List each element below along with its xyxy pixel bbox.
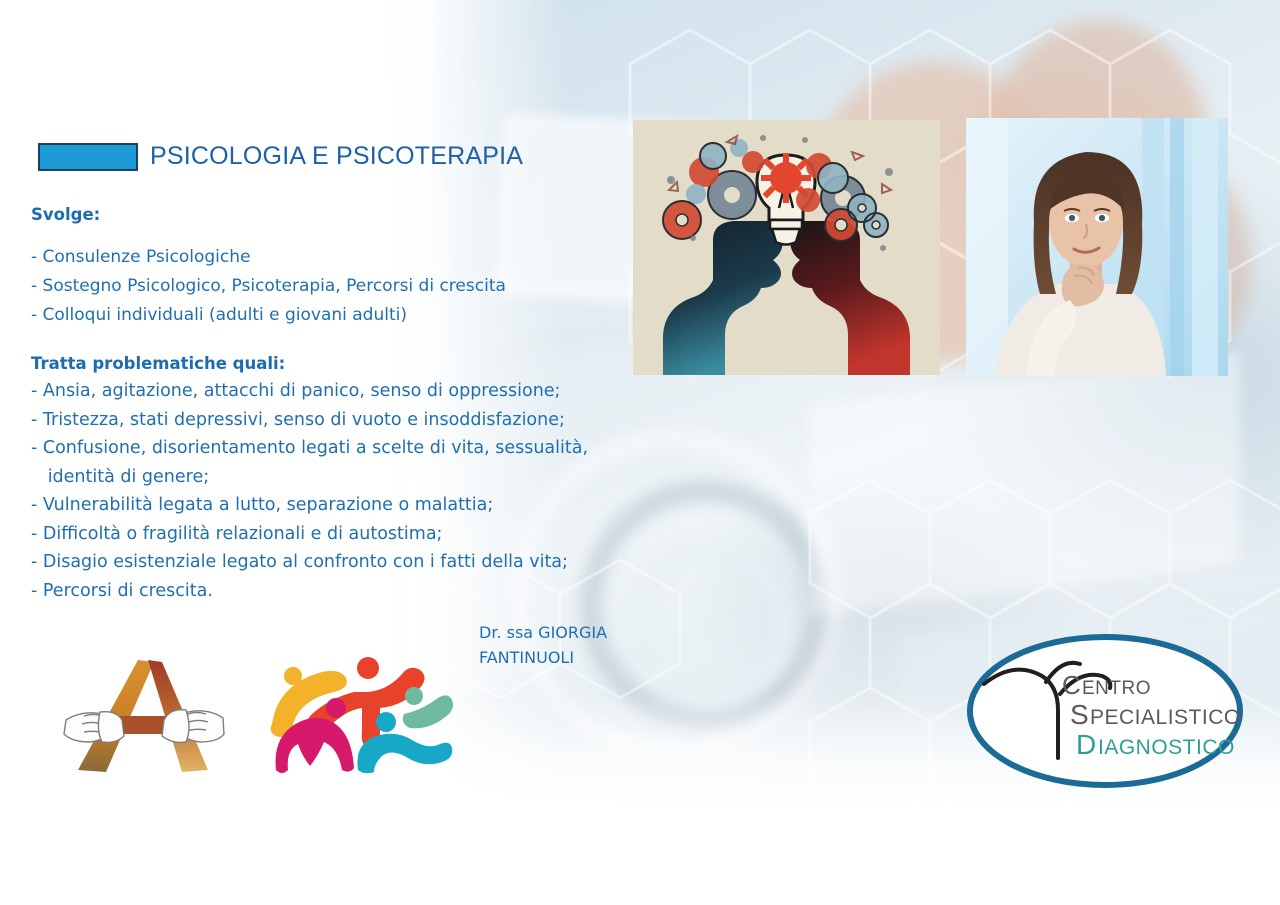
issues-heading: Tratta problematiche quali: bbox=[31, 354, 631, 373]
doctor-name-line-2: FANTINUOLI bbox=[479, 645, 709, 670]
logo-line-2-cap: S bbox=[1070, 699, 1089, 730]
list-item: - Ansia, agitazione, attacchi di panico,… bbox=[31, 377, 631, 406]
portrait-photo bbox=[966, 118, 1228, 376]
logo-line-1: ENTRO bbox=[1082, 678, 1151, 699]
slide-root: PSICOLOGIA E PSICOTERAPIA Svolge: - Cons… bbox=[0, 0, 1280, 905]
list-item: - Vulnerabilità legata a lutto, separazi… bbox=[31, 491, 631, 520]
list-item: - Colloqui individuali (adulti e giovani… bbox=[31, 301, 631, 330]
colorful-people-logo bbox=[262, 648, 457, 773]
list-item: - Tristezza, stati depressivi, senso di … bbox=[31, 406, 631, 435]
list-item: - Difficoltà o fragilità relazionali e d… bbox=[31, 520, 631, 549]
heads-gears-image bbox=[633, 120, 940, 375]
list-item: - Sostegno Psicologico, Psicoterapia, Pe… bbox=[31, 272, 631, 301]
page-title: PSICOLOGIA E PSICOTERAPIA bbox=[150, 142, 523, 171]
letter-a-logo bbox=[62, 650, 227, 780]
logo-line-2: PECIALISTICO bbox=[1090, 706, 1241, 729]
centro-specialistico-diagnostico-logo: C ENTRO S PECIALISTICO D IAGNOSTICO bbox=[966, 632, 1244, 790]
logo-line-3: IAGNOSTICO bbox=[1098, 736, 1235, 759]
issues-list: - Ansia, agitazione, attacchi di panico,… bbox=[31, 377, 631, 605]
list-item: - Percorsi di crescita. bbox=[31, 577, 631, 606]
logo-line-1-cap: C bbox=[1062, 670, 1081, 700]
services-list: - Consulenze Psicologiche - Sostegno Psi… bbox=[31, 243, 631, 330]
doctor-name-caption: Dr. ssa GIORGIA FANTINUOLI bbox=[479, 620, 709, 670]
title-accent-chip bbox=[38, 143, 138, 171]
list-item: - Confusione, disorientamento legati a s… bbox=[31, 434, 631, 463]
slide-title-row: PSICOLOGIA E PSICOTERAPIA bbox=[38, 142, 523, 171]
logo-line-3-cap: D bbox=[1076, 729, 1096, 760]
list-item: - Consulenze Psicologiche bbox=[31, 243, 631, 272]
list-item: identità di genere; bbox=[31, 463, 631, 492]
doctor-name-line-1: Dr. ssa GIORGIA bbox=[479, 620, 709, 645]
services-heading: Svolge: bbox=[31, 205, 631, 224]
content-column: Svolge: - Consulenze Psicologiche - Sost… bbox=[31, 205, 631, 605]
list-item: - Disagio esistenziale legato al confron… bbox=[31, 548, 631, 577]
